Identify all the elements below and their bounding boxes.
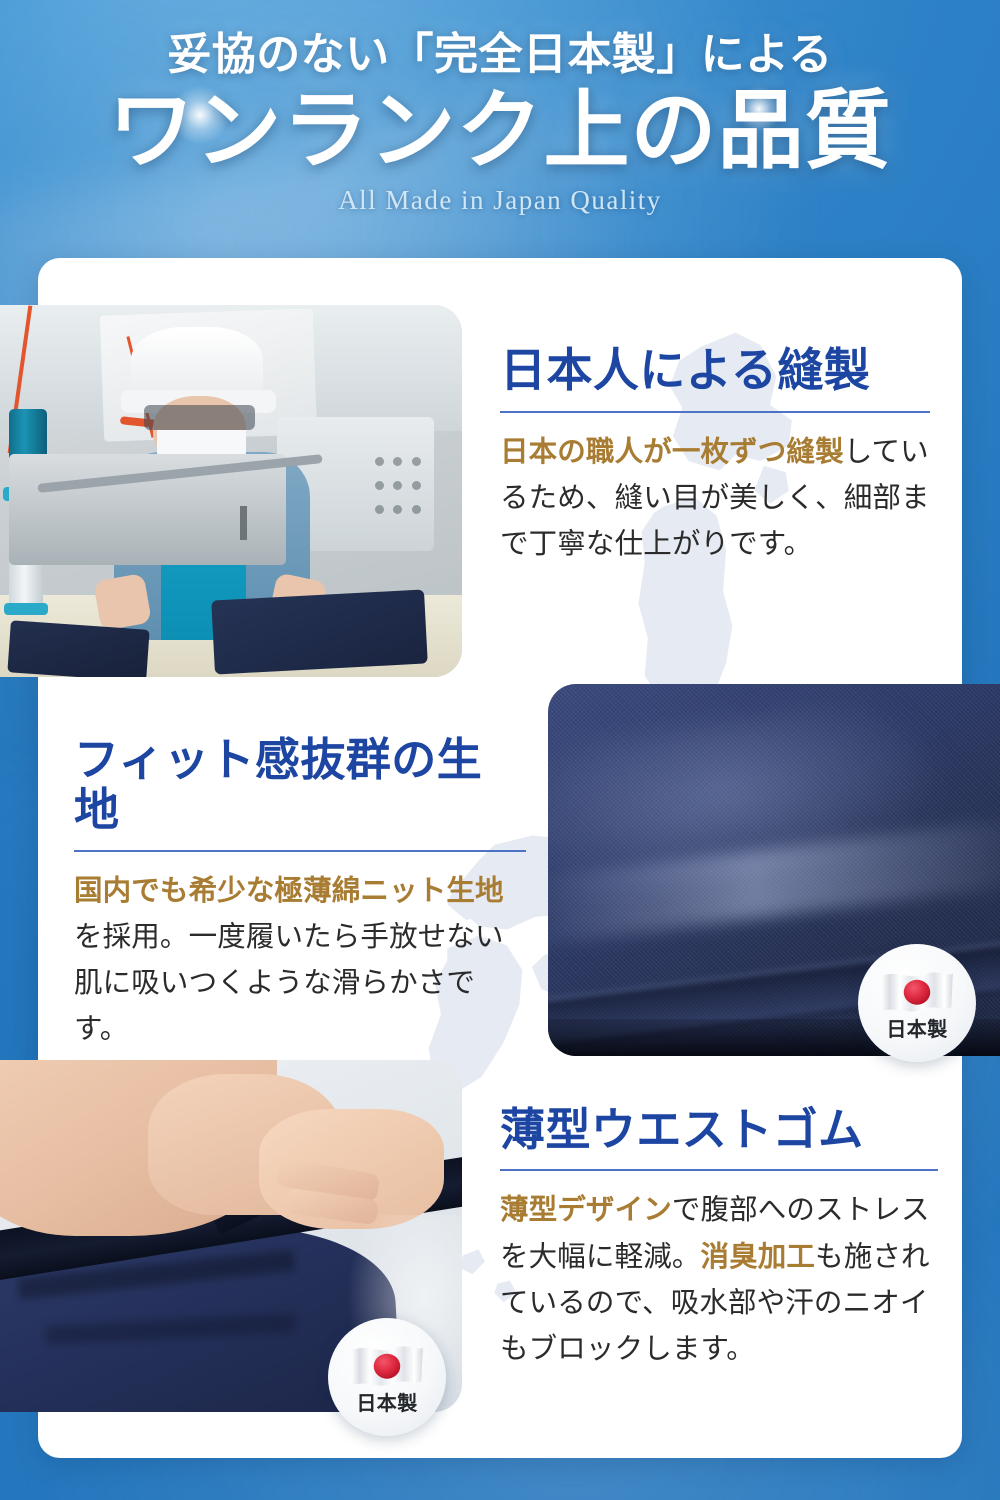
title-divider xyxy=(74,850,526,852)
japan-flag-icon xyxy=(348,1342,426,1392)
feature-block-fabric: フィット感抜群の生地 国内でも希少な極薄綿ニット生地を採用。一度履いたら手放せな… xyxy=(74,735,526,1052)
feature-block-waistband: 薄型ウエストゴム 薄型デザインで腹部へのストレスを大幅に軽減。消臭加工も施されて… xyxy=(500,1105,938,1372)
badge-label: 日本製 xyxy=(886,1019,947,1039)
header-line-2: ワンランク上の品質 xyxy=(0,83,1000,179)
highlight-text: 日本の職人が一枚ずつ縫製 xyxy=(500,435,844,468)
feature-body-waistband: 薄型デザインで腹部へのストレスを大幅に軽減。消臭加工も施されているので、吸水部や… xyxy=(500,1187,938,1372)
feature-body-fabric: 国内でも希少な極薄綿ニット生地を採用。一度履いたら手放せない肌に吸いつくような滑… xyxy=(74,868,526,1053)
photo-japanese-sewing xyxy=(0,305,462,677)
highlight-text: 消臭加工 xyxy=(701,1240,816,1273)
title-divider xyxy=(500,411,930,413)
feature-title-sewing: 日本人による縫製 xyxy=(500,345,930,397)
made-in-japan-badge: 日本製 xyxy=(328,1318,446,1436)
body-text: を採用。一度履いたら手放せない肌に吸いつくような滑らかさです。 xyxy=(74,920,504,1045)
header-line-1: 妥協のない「完全日本製」による xyxy=(0,0,1000,81)
header-subtitle: All Made in Japan Quality xyxy=(0,185,1000,216)
feature-title-waistband: 薄型ウエストゴム xyxy=(500,1105,938,1155)
highlight-text: 薄型デザイン xyxy=(500,1193,672,1226)
feature-body-sewing: 日本の職人が一枚ずつ縫製しているため、縫い目が美しく、細部まで丁寧な仕上がりです… xyxy=(500,429,930,567)
feature-title-fabric: フィット感抜群の生地 xyxy=(74,735,526,836)
photo-1-image xyxy=(0,305,462,677)
feature-block-sewing: 日本人による縫製 日本の職人が一枚ずつ縫製しているため、縫い目が美しく、細部まで… xyxy=(500,345,930,567)
made-in-japan-badge: 日本製 xyxy=(858,944,976,1062)
highlight-text: 国内でも希少な極薄綿ニット生地 xyxy=(74,874,504,907)
badge-label: 日本製 xyxy=(356,1393,417,1413)
page-header: 妥協のない「完全日本製」による ワンランク上の品質 All Made in Ja… xyxy=(0,0,1000,258)
japan-flag-icon xyxy=(878,968,956,1018)
title-divider xyxy=(500,1169,938,1171)
